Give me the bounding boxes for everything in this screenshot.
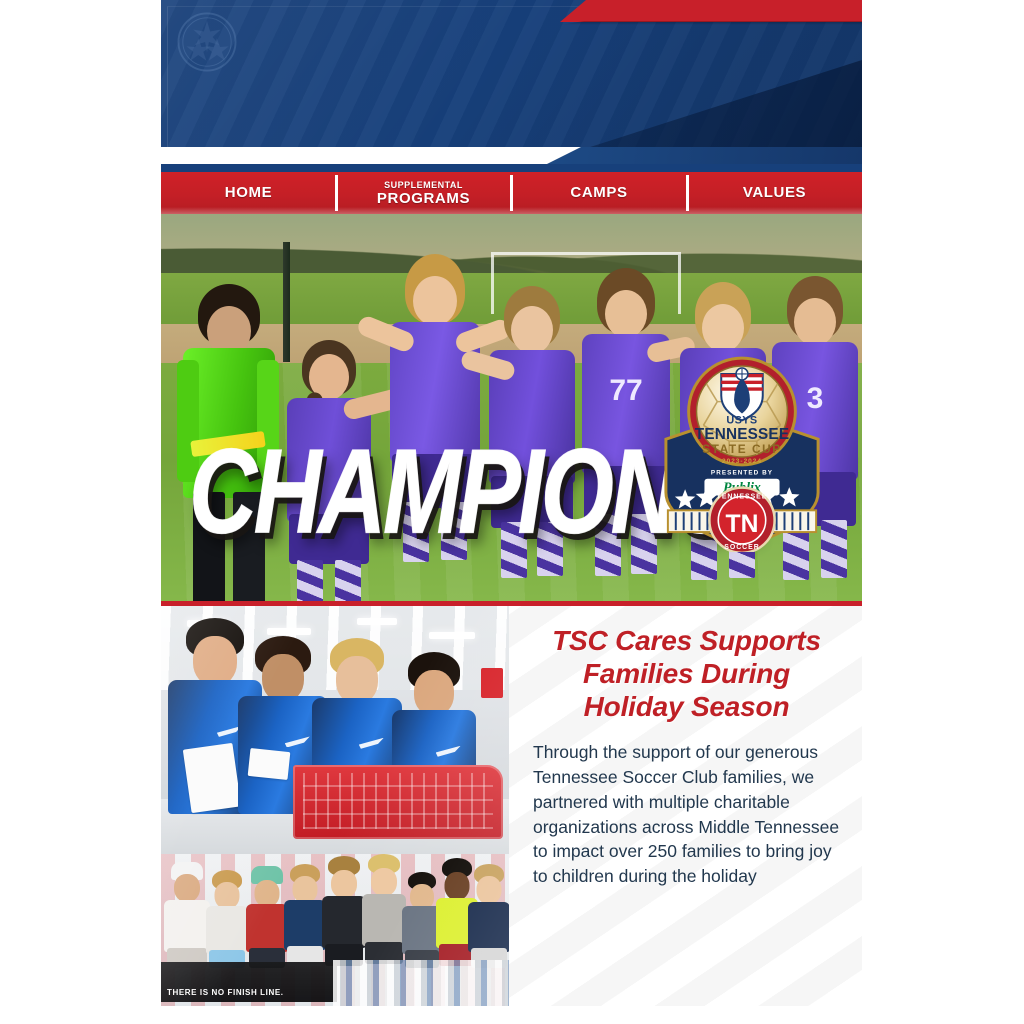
hero-champions-photo: 77 <box>161 214 862 606</box>
svg-text:TN: TN <box>726 511 759 538</box>
masthead-banner <box>161 0 862 172</box>
svg-text:SOCCER: SOCCER <box>724 544 759 551</box>
nav-item-home-label: HOME <box>225 185 272 201</box>
svg-text:TENNESSEE: TENNESSEE <box>695 426 789 443</box>
story-photo-bottom: THERE IS NO FINISH LINE. <box>161 854 509 1006</box>
hero-bottom-rule <box>161 601 862 606</box>
masthead-red-stripe-shadow <box>560 21 862 25</box>
svg-text:PRESENTED BY: PRESENTED BY <box>711 470 773 477</box>
masthead-red-diagonal-stripe <box>560 0 862 22</box>
svg-text:2023-2024: 2023-2024 <box>722 458 762 465</box>
story-text-column: TSC Cares Supports Families During Holid… <box>509 606 862 1006</box>
ceiling-light <box>357 618 397 625</box>
newsletter-content-column: HOME SUPPLEMENTAL PROGRAMS CAMPS VALUES <box>161 0 862 1024</box>
svg-text:STATE CUP: STATE CUP <box>702 442 782 456</box>
svg-text:USYS: USYS <box>726 414 757 426</box>
masthead-blue-base <box>161 164 862 172</box>
story-photo-top <box>161 606 509 854</box>
store-sign <box>481 668 503 698</box>
nav-item-home[interactable]: HOME <box>161 172 336 214</box>
tennessee-tristar-emblem-icon <box>176 11 238 73</box>
nav-item-values[interactable]: VALUES <box>687 172 862 214</box>
masthead-white-diagonal-stripe <box>161 147 581 164</box>
nav-item-supplemental-programs[interactable]: SUPPLEMENTAL PROGRAMS <box>336 172 511 214</box>
tennessee-state-cup-badge-icon: USYS TENNESSEE STATE CUP 2023-2024 PRESE… <box>658 354 826 552</box>
story-headline: TSC Cares Supports Families During Holid… <box>533 624 840 723</box>
ceiling-light <box>429 632 475 639</box>
story-photo-collage: THERE IS NO FINISH LINE. <box>161 606 509 1006</box>
store-shopping-cart <box>293 765 503 839</box>
story-body-text: Through the support of our generous Tenn… <box>533 740 840 889</box>
nav-item-camps[interactable]: CAMPS <box>511 172 687 214</box>
store-clothing-rack <box>333 960 509 1006</box>
nav-item-camps-label: CAMPS <box>570 185 627 201</box>
nav-item-values-label: VALUES <box>743 185 806 201</box>
main-navigation: HOME SUPPLEMENTAL PROGRAMS CAMPS VALUES <box>161 172 862 214</box>
story-kid-figure <box>205 868 249 966</box>
story-kid-figure <box>163 862 211 966</box>
nav-item-supplemental-programs-label: PROGRAMS <box>377 191 470 207</box>
story-kid-figure <box>467 862 509 966</box>
svg-text:TENNESSEE: TENNESSEE <box>717 493 768 500</box>
masthead-blue-slab-right <box>547 147 862 164</box>
newsletter-page: HOME SUPPLEMENTAL PROGRAMS CAMPS VALUES <box>0 0 1024 1024</box>
nike-store-sign: THERE IS NO FINISH LINE. <box>161 962 337 1002</box>
story-section: THERE IS NO FINISH LINE. TSC Cares Suppo… <box>161 606 862 1006</box>
